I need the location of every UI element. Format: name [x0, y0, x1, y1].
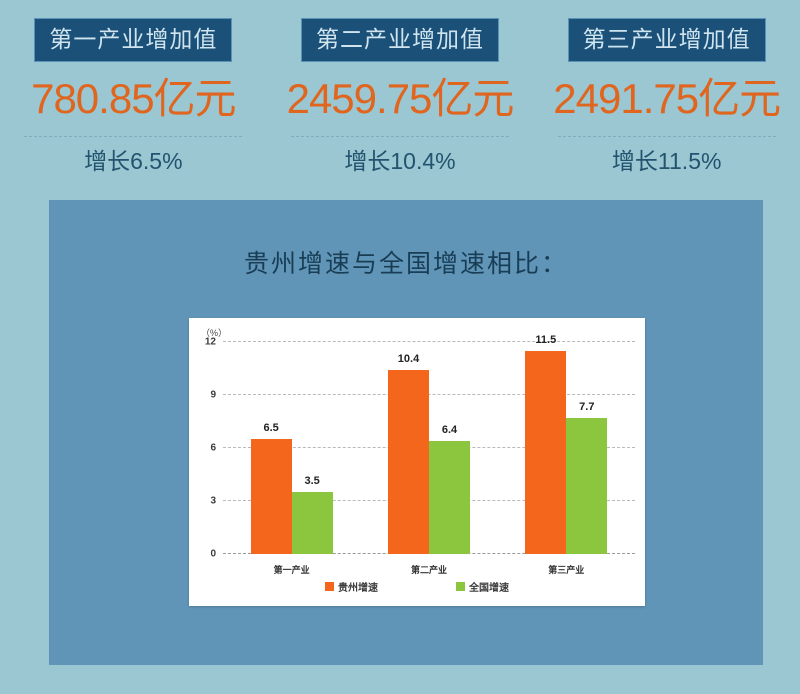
stat-growth: 增长10.4% — [344, 150, 455, 173]
chart-panel: 贵州增速与全国增速相比： （%） 036912 6.53.5第一产业10.46.… — [49, 200, 763, 665]
chart-bar-slot: 6.5 — [251, 342, 292, 554]
stat-divider — [558, 136, 776, 137]
chart-bar-groups: 6.53.5第一产业10.46.4第二产业11.57.7第三产业 — [223, 342, 635, 554]
chart-legend-swatch — [325, 582, 334, 591]
chart-legend-label: 贵州增速 — [338, 579, 378, 594]
chart-y-tick-label: 6 — [210, 443, 216, 454]
chart-x-axis-label: 第二产业 — [411, 563, 447, 576]
chart-legend-item[interactable]: 全国增速 — [456, 579, 509, 594]
chart-bar-value-label: 6.5 — [264, 422, 279, 434]
chart-y-tick-label: 9 — [210, 390, 216, 401]
chart-x-axis-label: 第三产业 — [548, 563, 584, 576]
chart-bar[interactable]: 6.4 — [429, 441, 470, 554]
stat-card-primary-industry: 第一产业增加值 780.85亿元 增长6.5% — [0, 18, 267, 180]
chart-y-tick-label: 0 — [210, 549, 216, 560]
chart-legend-label: 全国增速 — [469, 579, 509, 594]
chart-y-tick-label: 12 — [205, 337, 216, 348]
chart-bar[interactable]: 7.7 — [566, 418, 607, 554]
stat-badge-label: 第二产业增加值 — [301, 18, 499, 62]
stat-card-tertiary-industry: 第三产业增加值 2491.75亿元 增长11.5% — [533, 18, 800, 180]
stat-badge-label: 第三产业增加值 — [568, 18, 766, 62]
stat-value: 2459.75亿元 — [287, 78, 514, 120]
chart-bar-group: 6.53.5第一产业 — [223, 342, 360, 554]
chart-bar[interactable]: 6.5 — [251, 439, 292, 554]
chart-bar-slot: 7.7 — [566, 342, 607, 554]
chart-legend-swatch — [456, 582, 465, 591]
stat-card-secondary-industry: 第二产业增加值 2459.75亿元 增长10.4% — [267, 18, 534, 180]
stat-value: 780.85亿元 — [31, 78, 235, 120]
chart-bar[interactable]: 3.5 — [292, 492, 333, 554]
chart-bar-slot: 3.5 — [292, 342, 333, 554]
stat-value: 2491.75亿元 — [553, 78, 780, 120]
chart-bar[interactable]: 10.4 — [388, 370, 429, 554]
chart-bar-slot: 6.4 — [429, 342, 470, 554]
chart-legend-item[interactable]: 贵州增速 — [325, 579, 378, 594]
chart-bar[interactable]: 11.5 — [525, 351, 566, 554]
chart-bar-slot: 11.5 — [525, 342, 566, 554]
stat-badge-label: 第一产业增加值 — [34, 18, 232, 62]
chart-bar-value-label: 6.4 — [442, 424, 457, 436]
chart-x-axis-label: 第一产业 — [274, 563, 310, 576]
chart-bar-group: 11.57.7第三产业 — [498, 342, 635, 554]
chart-plot-area: 036912 6.53.5第一产业10.46.4第二产业11.57.7第三产业 — [223, 342, 635, 554]
chart-bar-value-label: 7.7 — [579, 401, 594, 413]
stat-cards-row: 第一产业增加值 780.85亿元 增长6.5% 第二产业增加值 2459.75亿… — [0, 0, 800, 180]
chart-bar-group: 10.46.4第二产业 — [360, 342, 497, 554]
stat-divider — [24, 136, 242, 137]
chart-bar-value-label: 10.4 — [398, 353, 419, 365]
stat-growth: 增长6.5% — [84, 150, 182, 173]
chart-y-tick-label: 3 — [210, 496, 216, 507]
chart-bar-value-label: 11.5 — [535, 334, 556, 346]
chart-bar-slot: 10.4 — [388, 342, 429, 554]
chart-panel-title: 贵州增速与全国增速相比： — [49, 200, 763, 277]
stat-divider — [291, 136, 509, 137]
stat-growth: 增长11.5% — [612, 150, 722, 173]
chart-legend: 贵州增速全国增速 — [189, 579, 645, 594]
bar-chart-card: （%） 036912 6.53.5第一产业10.46.4第二产业11.57.7第… — [189, 318, 645, 606]
chart-bar-value-label: 3.5 — [305, 475, 320, 487]
